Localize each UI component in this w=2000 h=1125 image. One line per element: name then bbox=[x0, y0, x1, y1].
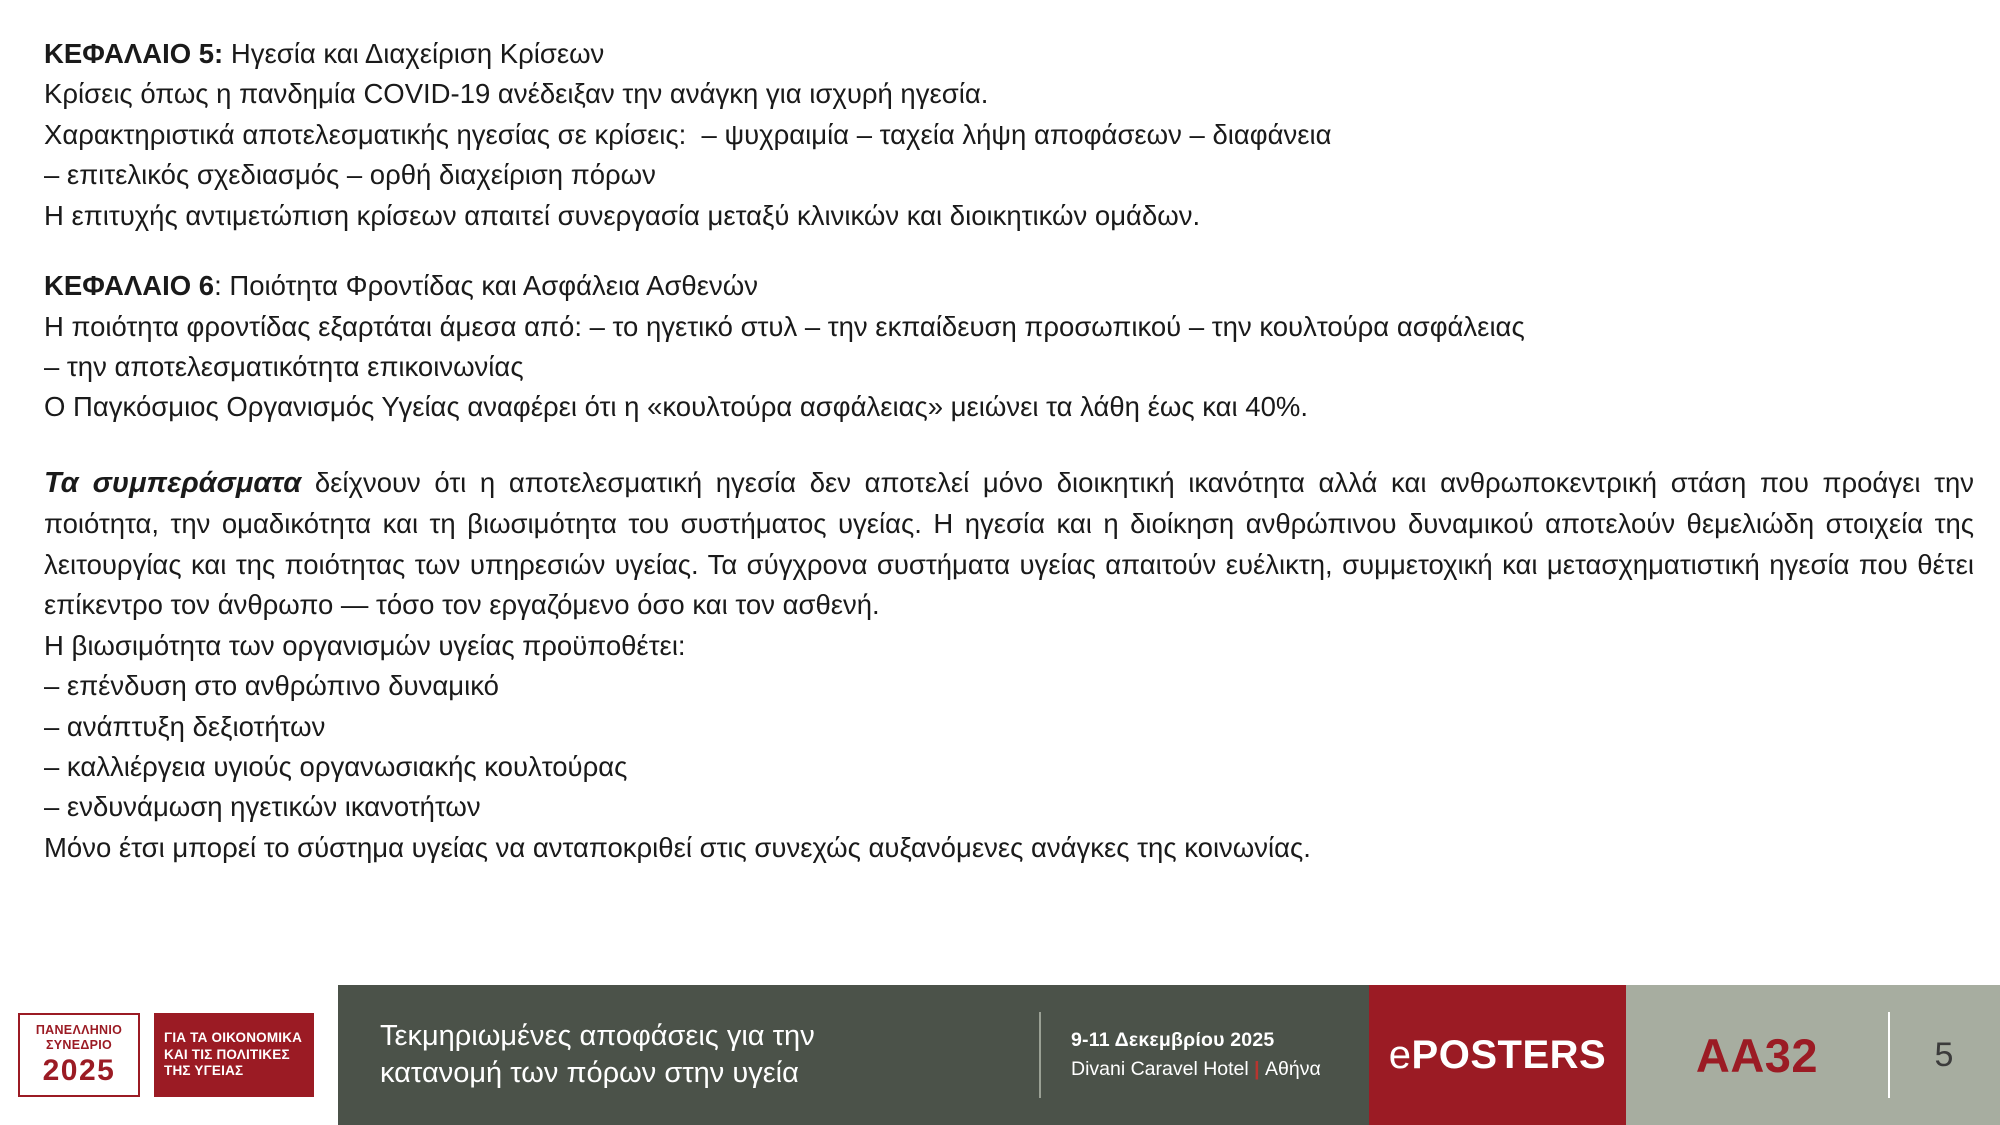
chapter-6-block: ΚΕΦΑΛΑΙΟ 6: Ποιότητα Φροντίδας και Ασφάλ… bbox=[44, 266, 1974, 428]
footer-congress-title-line1: Τεκμηριωμένες αποφάσεις για την bbox=[380, 1018, 815, 1055]
conclusions-line-6: Μόνο έτσι μπορεί το σύστημα υγείας να αν… bbox=[44, 828, 1974, 868]
slide-body: ΚΕΦΑΛΑΙΟ 5: Ηγεσία και Διαχείριση Κρίσεω… bbox=[44, 34, 1974, 868]
chapter-5-line-2: Χαρακτηριστικά αποτελεσματικής ηγεσίας σ… bbox=[44, 115, 1974, 155]
spacer-1 bbox=[44, 236, 1974, 266]
conclusions-line-2: – επένδυση στο ανθρώπινο δυναμικό bbox=[44, 666, 1974, 706]
chapter-5-line-4: Η επιτυχής αντιμετώπιση κρίσεων απαιτεί … bbox=[44, 196, 1974, 236]
footer-congress-title: Τεκμηριωμένες αποφάσεις για την κατανομή… bbox=[338, 985, 1039, 1125]
eposters-label: POSTERS bbox=[1412, 1033, 1607, 1078]
slide-footer: ΠΑΝΕΛΛΗΝΙΟ ΣΥΝΕΔΡΙΟ 2025 ΓΙΑ ΤΑ ΟΙΚΟΝΟΜΙ… bbox=[0, 985, 2000, 1125]
chapter-5-heading: ΚΕΦΑΛΑΙΟ 5: bbox=[44, 38, 223, 69]
chapter-5-line-1: Κρίσεις όπως η πανδημία COVID-19 ανέδειξ… bbox=[44, 74, 1974, 114]
chapter-6-heading-rest: : Ποιότητα Φροντίδας και Ασφάλεια Ασθενώ… bbox=[214, 270, 758, 301]
conclusions-line-3: – ανάπτυξη δεξιοτήτων bbox=[44, 707, 1974, 747]
chapter-6-line-3: Ο Παγκόσμιος Οργανισμός Υγείας αναφέρει … bbox=[44, 387, 1974, 427]
conclusions-text: δείχνουν ότι η αποτελεσματική ηγεσία δεν… bbox=[44, 467, 1974, 620]
conclusions-block: Τα συμπεράσματα δείχνουν ότι η αποτελεσμ… bbox=[44, 462, 1974, 868]
conclusions-line-4: – καλλιέργεια υγιούς οργανωσιακής κουλτο… bbox=[44, 747, 1974, 787]
congress-logo-line1: ΠΑΝΕΛΛΗΝΙΟ bbox=[36, 1023, 122, 1038]
footer-venue: Divani Caravel Hotel bbox=[1071, 1058, 1249, 1080]
footer-congress-title-line2: κατανομή των πόρων στην υγεία bbox=[380, 1055, 815, 1092]
conclusions-paragraph: Τα συμπεράσματα δείχνουν ότι η αποτελεσμ… bbox=[44, 462, 1974, 626]
congress-logo-line2: ΣΥΝΕΔΡΙΟ bbox=[46, 1038, 112, 1053]
page-number-divider bbox=[1888, 1012, 1890, 1098]
eposters-prefix: e bbox=[1389, 1033, 1412, 1078]
footer-city: Αθήνα bbox=[1265, 1058, 1321, 1080]
eposters-badge: ePOSTERS bbox=[1369, 985, 1626, 1125]
footer-logos: ΠΑΝΕΛΛΗΝΙΟ ΣΥΝΕΔΡΙΟ 2025 ΓΙΑ ΤΑ ΟΙΚΟΝΟΜΙ… bbox=[0, 985, 338, 1125]
footer-event-info: 9-11 Δεκεμβρίου 2025 Divani Caravel Hote… bbox=[1039, 985, 1369, 1125]
topic-logo-line2: ΚΑΙ ΤΙΣ ΠΟΛΙΤΙΚΕΣ bbox=[164, 1047, 304, 1063]
chapter-6-line-2: – την αποτελεσματικότητα επικοινωνίας bbox=[44, 347, 1974, 387]
topic-logo-line1: ΓΙΑ ΤΑ ΟΙΚΟΝΟΜΙΚΑ bbox=[164, 1030, 304, 1046]
footer-venue-separator: | bbox=[1249, 1058, 1265, 1080]
page-number-area: 5 bbox=[1888, 985, 2000, 1125]
congress-logo-year: 2025 bbox=[43, 1054, 116, 1087]
chapter-6-heading-line: ΚΕΦΑΛΑΙΟ 6: Ποιότητα Φροντίδας και Ασφάλ… bbox=[44, 266, 1974, 306]
footer-congress-title-text: Τεκμηριωμένες αποφάσεις για την κατανομή… bbox=[380, 1018, 815, 1092]
conclusions-heading: Τα συμπεράσματα bbox=[44, 467, 301, 499]
slide: ΚΕΦΑΛΑΙΟ 5: Ηγεσία και Διαχείριση Κρίσεω… bbox=[0, 0, 2000, 1125]
conclusions-line-5: – ενδυνάμωση ηγετικών ικανοτήτων bbox=[44, 787, 1974, 827]
chapter-5-block: ΚΕΦΑΛΑΙΟ 5: Ηγεσία και Διαχείριση Κρίσεω… bbox=[44, 34, 1974, 236]
chapter-5-heading-line: ΚΕΦΑΛΑΙΟ 5: Ηγεσία και Διαχείριση Κρίσεω… bbox=[44, 34, 1974, 74]
spacer-2 bbox=[44, 428, 1974, 462]
chapter-6-line-1: Η ποιότητα φροντίδας εξαρτάται άμεσα από… bbox=[44, 307, 1974, 347]
footer-venue-line: Divani Caravel Hotel | Αθήνα bbox=[1071, 1055, 1321, 1084]
abstract-code-badge: AA32 bbox=[1626, 985, 1888, 1125]
chapter-5-line-3: – επιτελικός σχεδιασμός – ορθή διαχείρισ… bbox=[44, 155, 1974, 195]
footer-dates-venue: 9-11 Δεκεμβρίου 2025 Divani Caravel Hote… bbox=[1071, 1026, 1321, 1085]
footer-divider bbox=[1039, 1012, 1041, 1098]
conclusions-line-1: Η βιωσιμότητα των οργανισμών υγείας προϋ… bbox=[44, 626, 1974, 666]
chapter-6-heading: ΚΕΦΑΛΑΙΟ 6 bbox=[44, 270, 214, 301]
page-number: 5 bbox=[1935, 1036, 1954, 1075]
topic-logo: ΓΙΑ ΤΑ ΟΙΚΟΝΟΜΙΚΑ ΚΑΙ ΤΙΣ ΠΟΛΙΤΙΚΕΣ ΤΗΣ … bbox=[154, 1013, 314, 1097]
chapter-5-heading-rest: Ηγεσία και Διαχείριση Κρίσεων bbox=[223, 38, 604, 69]
topic-logo-line3: ΤΗΣ ΥΓΕΙΑΣ bbox=[164, 1063, 304, 1079]
congress-logo: ΠΑΝΕΛΛΗΝΙΟ ΣΥΝΕΔΡΙΟ 2025 bbox=[18, 1013, 140, 1097]
footer-dates: 9-11 Δεκεμβρίου 2025 bbox=[1071, 1026, 1321, 1055]
